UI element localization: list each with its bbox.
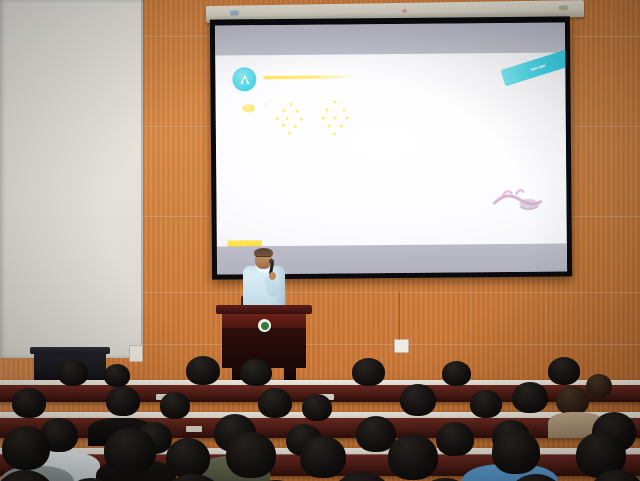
audience-member [226, 432, 276, 478]
lecture-hall-photo: ▬▬ ▸ [0, 0, 640, 481]
audience-member [388, 434, 438, 480]
audience-member [442, 361, 471, 386]
podium-top-surface [216, 305, 312, 314]
audience-member [548, 357, 580, 385]
audience-member [58, 360, 88, 386]
housing-bracket-icon [230, 10, 239, 15]
audience-member [104, 364, 130, 387]
audience-member [436, 422, 474, 456]
audience-member [106, 386, 140, 416]
slide-tick-mark [266, 102, 267, 107]
slide-dot-cluster [322, 100, 350, 136]
speaker-hand [269, 272, 276, 280]
slide-corner-ribbon: ▬▬ [500, 48, 567, 86]
audience-member [400, 384, 436, 416]
audience-member [104, 428, 156, 474]
audience-member [160, 392, 190, 419]
audience-member [492, 430, 540, 474]
projected-slide: ▬▬ ▸ [215, 52, 567, 251]
audience-member [470, 390, 502, 418]
audience-member [166, 438, 210, 478]
slide-dot-cluster [276, 103, 306, 137]
housing-bracket-icon [559, 5, 568, 10]
audience-member [240, 359, 272, 386]
podium-front-band [222, 314, 306, 328]
slide-decoration-graphic [488, 187, 542, 215]
audience-area [0, 352, 640, 481]
audience-member [300, 436, 346, 478]
audience-member [352, 358, 385, 386]
audience-member [512, 382, 548, 413]
screen-band-top [215, 22, 565, 55]
audience-member [586, 374, 612, 398]
wall-seam-vertical [612, 0, 614, 352]
hanging-cable [399, 292, 400, 340]
audience-member [2, 426, 50, 470]
wall-edge-shadow [141, 0, 145, 358]
podium-emblem-icon [258, 319, 271, 332]
screen-surface: ▬▬ ▸ [215, 22, 567, 274]
audience-member [302, 394, 332, 421]
audience-member [556, 386, 589, 415]
wall-outlet [394, 339, 409, 353]
slide-logo-icon [232, 67, 256, 91]
slide-ribbon-label: ▬▬ [530, 61, 547, 72]
plaster-wall-column [0, 0, 143, 358]
slide-bullet-icon [243, 104, 255, 112]
audience-member [258, 388, 292, 418]
slide-title-bar [263, 75, 355, 79]
audience-member [186, 356, 220, 385]
projection-screen: ▬▬ ▸ [210, 16, 572, 279]
desk-nameplate [186, 426, 202, 432]
audience-member [12, 388, 46, 418]
housing-marker-icon [402, 9, 407, 13]
